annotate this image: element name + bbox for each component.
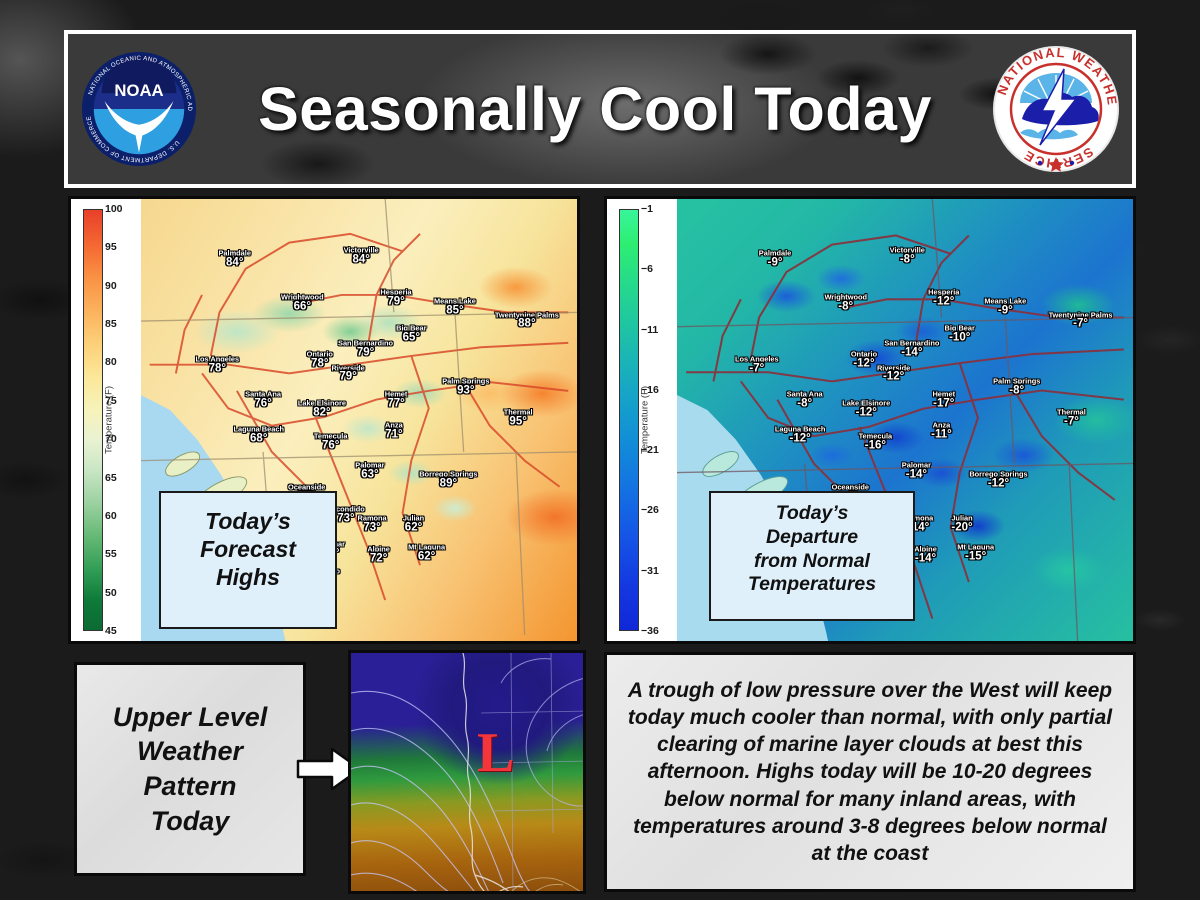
city-value: -17° xyxy=(932,398,955,410)
forecast-discussion-text: A trough of low pressure over the West w… xyxy=(621,677,1119,867)
city-name: Borrego Springs xyxy=(419,470,477,477)
highs-caption-line-1: Today’s xyxy=(161,507,335,535)
header-banner: NOAA NATIONAL OCEANIC AND ATMOSPHERIC AD… xyxy=(64,30,1136,188)
city-name: Palomar xyxy=(902,461,931,468)
city-value: 71° xyxy=(385,429,403,441)
city-name: Hemet xyxy=(932,390,955,397)
city-value: 66° xyxy=(281,301,324,313)
city-name: Thermal xyxy=(504,408,533,415)
city-name: Palmdale xyxy=(759,249,791,256)
city-label: San Bernardino-14° xyxy=(884,340,939,359)
city-name: Santa Ana xyxy=(245,390,281,397)
city-value: 68° xyxy=(233,434,284,446)
city-value: 79° xyxy=(380,297,411,309)
city-name: Anza xyxy=(931,421,952,428)
colorbar-tick: 90 xyxy=(105,280,117,292)
city-label: Borrego Springs-12° xyxy=(969,470,1027,489)
upper-level-label-box: Upper Level Weather Pattern Today xyxy=(74,662,306,876)
city-value: -15° xyxy=(957,551,994,563)
city-value: 73° xyxy=(357,522,386,534)
colorbar-tick: 95 xyxy=(105,241,117,253)
city-value: 85° xyxy=(434,305,476,317)
city-label: Santa Ana-8° xyxy=(787,390,823,409)
upper-level-pattern-map[interactable]: L xyxy=(348,650,586,894)
upper-level-label-line-4: Today xyxy=(151,804,230,839)
city-name: Palomar xyxy=(355,461,384,468)
city-value: 65° xyxy=(396,332,426,344)
city-name: Thermal xyxy=(1057,408,1086,415)
city-label: Wrightwood66° xyxy=(281,293,324,312)
city-label: Hesperia-12° xyxy=(928,289,959,308)
city-value: -20° xyxy=(951,522,972,534)
city-label: Los Angeles78° xyxy=(195,355,239,374)
colorbar-tick: 80 xyxy=(105,356,117,368)
city-label: Palm Springs-8° xyxy=(993,377,1040,396)
colorbar-tick: 65 xyxy=(105,472,117,484)
city-name: Big Bear xyxy=(945,324,975,331)
city-value: 89° xyxy=(419,478,477,490)
city-value: 82° xyxy=(298,407,346,419)
colorbar-tick: 50 xyxy=(105,587,117,599)
city-name: Anza xyxy=(385,421,403,428)
upper-level-label-line-3: Pattern xyxy=(143,769,236,804)
city-label: Anza71° xyxy=(385,421,403,440)
colorbar-tick: −31 xyxy=(641,565,659,577)
city-label: Alpine72° xyxy=(367,545,390,564)
colorbar-tick: −1 xyxy=(641,203,653,215)
upper-level-label-line-1: Upper Level xyxy=(113,700,268,735)
city-value: -8° xyxy=(890,255,925,267)
colorbar-tick: 60 xyxy=(105,510,117,522)
city-name: Ontario xyxy=(851,351,877,358)
city-value: -12° xyxy=(969,478,1027,490)
nws-logo: NATIONAL WEATHER SERVICE xyxy=(992,45,1120,173)
city-label: Hemet77° xyxy=(385,390,408,409)
departure-caption-line-1: Today’s xyxy=(711,502,913,526)
city-name: Palmdale xyxy=(219,249,251,256)
city-value: -10° xyxy=(945,332,975,344)
city-value: 78° xyxy=(307,359,333,371)
city-value: -7° xyxy=(1049,319,1113,331)
city-label: Riverside79° xyxy=(331,364,364,383)
city-name: Victorville xyxy=(890,247,925,254)
city-value: 84° xyxy=(219,257,251,269)
city-value: 93° xyxy=(442,385,489,397)
city-value: -12° xyxy=(842,407,890,419)
highs-caption-line-2: Forecast xyxy=(161,535,335,563)
city-name: Julian xyxy=(951,514,972,521)
city-value: 95° xyxy=(504,416,533,428)
city-label: Anza-11° xyxy=(931,421,952,440)
city-label: Lake Elsinore82° xyxy=(298,399,346,418)
city-label: Victorville84° xyxy=(344,247,379,266)
city-name: Lake Elsinore xyxy=(298,399,346,406)
forecast-discussion-panel: A trough of low pressure over the West w… xyxy=(604,652,1136,892)
departure-caption-box: Today’s Departure from Normal Temperatur… xyxy=(709,491,915,621)
city-name: Los Angeles xyxy=(195,355,239,362)
city-label: Mt Laguna62° xyxy=(408,543,445,562)
city-label: Temecula-16° xyxy=(859,432,893,451)
city-value: -8° xyxy=(993,385,1040,397)
city-name: Big Bear xyxy=(396,324,426,331)
highs-colorbar-axis-label: Temperature (F) xyxy=(103,386,114,454)
low-pressure-marker: L xyxy=(477,725,514,781)
city-value: -12° xyxy=(928,297,959,309)
noaa-logo: NOAA NATIONAL OCEANIC AND ATMOSPHERIC AD… xyxy=(80,50,198,168)
city-label: Wrightwood-8° xyxy=(824,293,867,312)
highs-caption-line-3: Highs xyxy=(161,563,335,591)
colorbar-tick: 100 xyxy=(105,203,123,215)
departure-caption-line-2: Departure xyxy=(711,526,913,550)
city-value: -8° xyxy=(787,398,823,410)
upper-level-label-line-2: Weather xyxy=(137,734,243,769)
city-value: -11° xyxy=(931,429,952,441)
upper-level-contours xyxy=(351,653,586,894)
city-value: 76° xyxy=(314,440,348,452)
city-name: San Bernardino xyxy=(884,340,939,347)
city-label: Means Lake-9° xyxy=(984,298,1026,317)
city-name: Temecula xyxy=(859,432,893,439)
departure-caption-line-4: Temperatures xyxy=(711,573,913,597)
city-name: Ramona xyxy=(357,514,386,521)
departure-colorbar: −1−6−11−16−21−26−31−36 Temperature (F) xyxy=(607,199,677,641)
city-value: -12° xyxy=(877,372,910,384)
city-label: Thermal95° xyxy=(504,408,533,427)
colorbar-tick: −11 xyxy=(641,324,658,336)
city-value: 62° xyxy=(408,551,445,563)
city-name: Julian xyxy=(403,514,424,521)
city-name: Palm Springs xyxy=(993,377,1040,384)
city-name: Wrightwood xyxy=(824,293,867,300)
city-label: Ontario78° xyxy=(307,351,333,370)
city-name: Lake Elsinore xyxy=(842,399,890,406)
highs-colorbar-gradient xyxy=(83,209,103,631)
page-title: Seasonally Cool Today xyxy=(198,74,992,144)
city-name: Twentynine Palms xyxy=(495,311,559,318)
city-label: Means Lake85° xyxy=(434,298,476,317)
city-label: Big Bear-10° xyxy=(945,324,975,343)
city-value: -16° xyxy=(859,440,893,452)
city-name: Los Angeles xyxy=(735,355,779,362)
city-value: 72° xyxy=(367,553,390,565)
city-label: Palm Springs93° xyxy=(442,377,489,396)
city-name: Oceanside xyxy=(832,483,869,490)
city-label: Twentynine Palms-7° xyxy=(1049,311,1113,330)
city-value: 77° xyxy=(385,398,408,410)
noaa-wordmark: NOAA xyxy=(114,81,163,100)
city-name: Palm Springs xyxy=(442,377,489,384)
city-value: 84° xyxy=(344,255,379,267)
city-value: -8° xyxy=(824,301,867,313)
forecast-highs-map-panel[interactable]: 1009590858075706560555045 Temperature (F… xyxy=(68,196,580,644)
city-value: -12° xyxy=(775,434,826,446)
city-name: Twentynine Palms xyxy=(1049,311,1113,318)
city-label: Julian62° xyxy=(403,514,424,533)
city-name: Ontario xyxy=(307,351,333,358)
city-label: Laguna Beach-12° xyxy=(775,426,826,445)
highs-colorbar: 1009590858075706560555045 Temperature (F… xyxy=(71,199,141,641)
city-name: Hesperia xyxy=(928,289,959,296)
city-value: -9° xyxy=(984,305,1026,317)
city-label: Palmdale-9° xyxy=(759,249,791,268)
colorbar-tick: −36 xyxy=(641,625,659,637)
city-name: Laguna Beach xyxy=(233,426,284,433)
city-name: Alpine xyxy=(914,545,937,552)
departure-map-panel[interactable]: −1−6−11−16−21−26−31−36 Temperature (F) xyxy=(604,196,1136,644)
city-label: Santa Ana76° xyxy=(245,390,281,409)
city-name: Wrightwood xyxy=(281,293,324,300)
city-name: Hesperia xyxy=(380,289,411,296)
city-value: -14° xyxy=(914,553,937,565)
city-label: Alpine-14° xyxy=(914,545,937,564)
city-name: Santa Ana xyxy=(787,390,823,397)
city-label: Lake Elsinore-12° xyxy=(842,399,890,418)
city-value: -9° xyxy=(759,257,791,269)
departure-colorbar-gradient xyxy=(619,209,639,631)
city-label: Borrego Springs89° xyxy=(419,470,477,489)
city-value: -14° xyxy=(884,347,939,359)
city-value: 79° xyxy=(331,372,364,384)
city-label: Julian-20° xyxy=(951,514,972,533)
city-value: 78° xyxy=(195,363,239,375)
city-name: Borrego Springs xyxy=(969,470,1027,477)
city-value: 79° xyxy=(338,347,393,359)
departure-caption-line-3: from Normal xyxy=(711,550,913,574)
city-label: Twentynine Palms88° xyxy=(495,311,559,330)
city-value: 76° xyxy=(245,398,281,410)
city-name: Hemet xyxy=(385,390,408,397)
colorbar-tick: 55 xyxy=(105,548,117,560)
city-label: Riverside-12° xyxy=(877,364,910,383)
city-name: Alpine xyxy=(367,545,390,552)
city-value: -7° xyxy=(735,363,779,375)
city-value: -7° xyxy=(1057,416,1086,428)
city-name: Temecula xyxy=(314,432,348,439)
city-label: Big Bear65° xyxy=(396,324,426,343)
departure-colorbar-axis-label: Temperature (F) xyxy=(639,386,650,454)
city-label: San Bernardino79° xyxy=(338,340,393,359)
city-name: Means Lake xyxy=(984,298,1026,305)
city-label: Temecula76° xyxy=(314,432,348,451)
colorbar-tick: −6 xyxy=(641,263,653,275)
colorbar-tick: −26 xyxy=(641,504,659,516)
city-value: -14° xyxy=(902,469,931,481)
city-label: Ramona73° xyxy=(357,514,386,533)
city-name: Laguna Beach xyxy=(775,426,826,433)
colorbar-tick: 45 xyxy=(105,625,117,637)
city-label: Ontario-12° xyxy=(851,351,877,370)
city-label: Victorville-8° xyxy=(890,247,925,266)
city-name: Means Lake xyxy=(434,298,476,305)
city-label: Palomar63° xyxy=(355,461,384,480)
city-label: Thermal-7° xyxy=(1057,408,1086,427)
city-label: Laguna Beach68° xyxy=(233,426,284,445)
city-name: Oceanside xyxy=(288,483,325,490)
city-name: Mt Laguna xyxy=(957,543,994,550)
city-value: 63° xyxy=(355,469,384,481)
city-label: Palmdale84° xyxy=(219,249,251,268)
colorbar-tick: 85 xyxy=(105,318,117,330)
city-label: Los Angeles-7° xyxy=(735,355,779,374)
city-label: Mt Laguna-15° xyxy=(957,543,994,562)
city-value: 62° xyxy=(403,522,424,534)
city-value: -12° xyxy=(851,359,877,371)
city-value: 88° xyxy=(495,319,559,331)
city-label: Hesperia79° xyxy=(380,289,411,308)
city-name: Mt Laguna xyxy=(408,543,445,550)
city-name: Riverside xyxy=(877,364,910,371)
highs-caption-box: Today’s Forecast Highs xyxy=(159,491,337,629)
city-label: Hemet-17° xyxy=(932,390,955,409)
city-name: Victorville xyxy=(344,247,379,254)
city-name: Riverside xyxy=(331,364,364,371)
city-label: Palomar-14° xyxy=(902,461,931,480)
city-name: San Bernardino xyxy=(338,340,393,347)
